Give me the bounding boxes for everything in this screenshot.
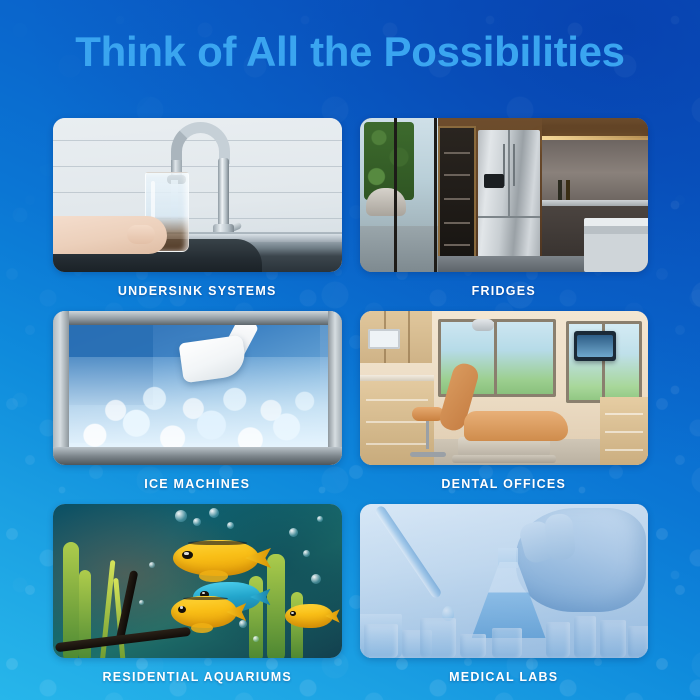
card-caption-medical: MEDICAL LABS — [360, 658, 649, 697]
grid-row-1: UNDERSINK SYSTEMS — [53, 118, 648, 311]
grid-cell-aquarium: RESIDENTIAL AQUARIUMS — [53, 504, 342, 697]
grid-cell-ice: ICE MACHINES — [53, 311, 342, 504]
page-title: Think of All the Possibilities — [0, 27, 700, 77]
grid-cell-undersink: UNDERSINK SYSTEMS — [53, 118, 342, 311]
dental-office-illustration — [360, 311, 649, 465]
undersink-faucet-illustration — [53, 118, 342, 272]
fridge-kitchen-illustration — [360, 118, 649, 272]
fish-yellow-medium — [171, 596, 237, 628]
card-caption-undersink: UNDERSINK SYSTEMS — [53, 272, 342, 311]
possibilities-grid: UNDERSINK SYSTEMS — [53, 118, 648, 697]
card-image-ice[interactable] — [53, 311, 342, 465]
fish-yellow-large — [173, 540, 259, 576]
grid-row-3: RESIDENTIAL AQUARIUMS — [53, 504, 648, 697]
grid-row-2: ICE MACHINES — [53, 311, 648, 504]
card-image-medical[interactable] — [360, 504, 649, 658]
card-image-dental[interactable] — [360, 311, 649, 465]
ice-machine-illustration — [53, 311, 342, 465]
grid-cell-medical: MEDICAL LABS — [360, 504, 649, 697]
card-image-aquarium[interactable] — [53, 504, 342, 658]
medical-lab-illustration — [360, 504, 649, 658]
aquarium-illustration — [53, 504, 342, 658]
card-caption-dental: DENTAL OFFICES — [360, 465, 649, 504]
card-caption-fridges: FRIDGES — [360, 272, 649, 311]
grid-cell-dental: DENTAL OFFICES — [360, 311, 649, 504]
fish-yellow-small — [285, 604, 333, 628]
card-image-undersink[interactable] — [53, 118, 342, 272]
card-caption-ice: ICE MACHINES — [53, 465, 342, 504]
poster-canvas: Think of All the Possibilities — [0, 0, 700, 700]
card-image-fridges[interactable] — [360, 118, 649, 272]
grid-cell-fridges: FRIDGES — [360, 118, 649, 311]
card-caption-aquarium: RESIDENTIAL AQUARIUMS — [53, 658, 342, 697]
